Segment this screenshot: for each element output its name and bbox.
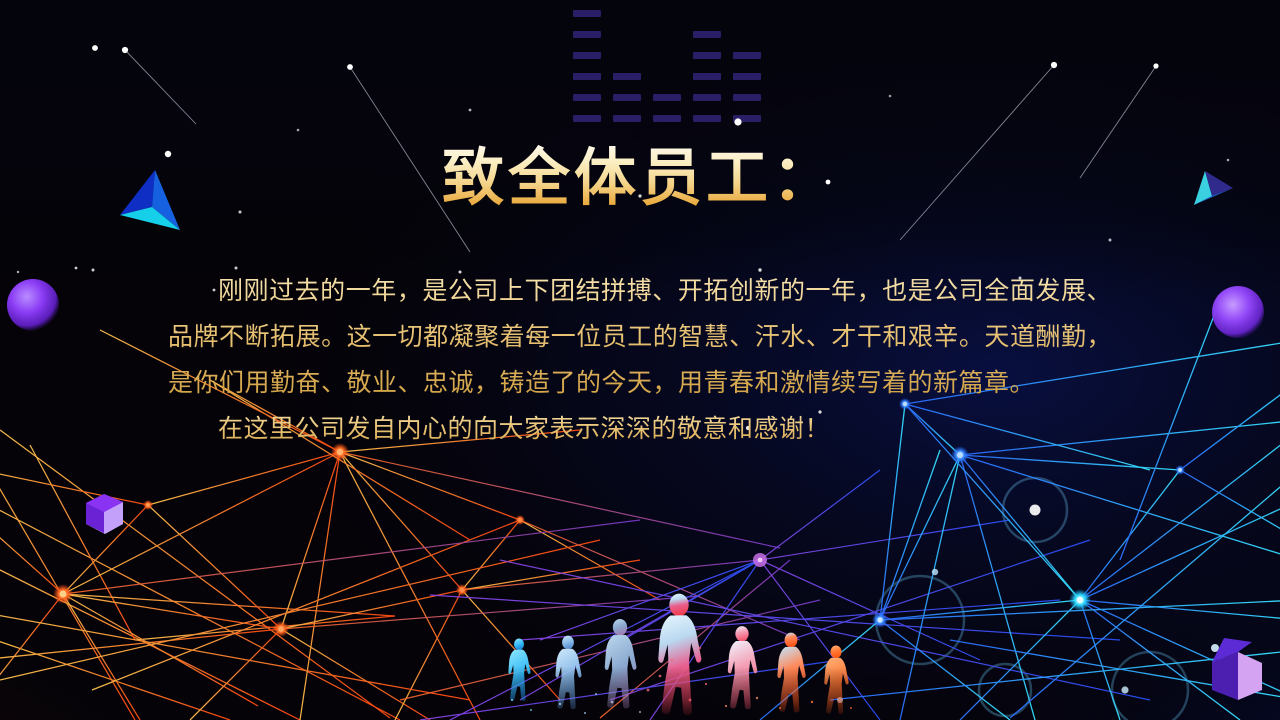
presentation-slide: 致全体员工： 刚刚过去的一年，是公司上下团结拼搏、开拓创新的一年，也是公司全面发…: [0, 0, 1280, 720]
constellation-line-3: [900, 65, 1054, 240]
constellation-line-4: [1080, 66, 1156, 178]
constellation-line-1: [125, 50, 196, 124]
starfield: [0, 0, 1280, 720]
constellation-line-2: [350, 67, 470, 252]
